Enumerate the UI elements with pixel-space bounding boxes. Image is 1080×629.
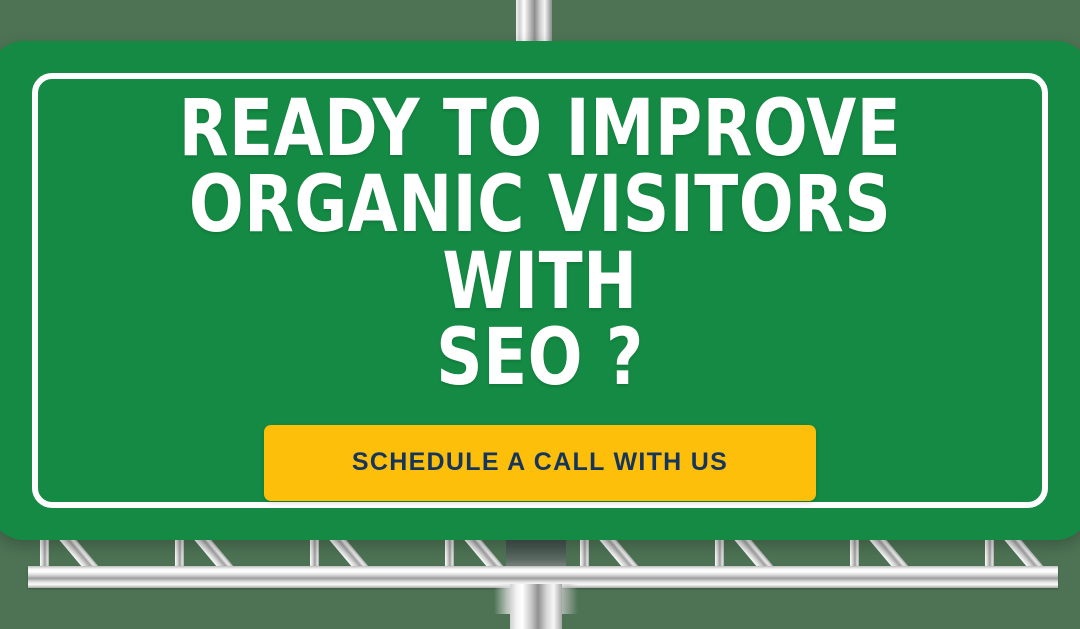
billboard-scene: READY TO IMPROVE ORGANIC VISITORS WITH S… [0,0,1080,629]
schedule-call-button[interactable]: SCHEDULE A CALL WITH US [264,425,816,501]
sign-board: READY TO IMPROVE ORGANIC VISITORS WITH S… [0,41,1080,540]
sign-headline: READY TO IMPROVE ORGANIC VISITORS WITH S… [82,91,998,397]
centre-support-post [510,584,562,629]
cta-container: SCHEDULE A CALL WITH US [42,425,1038,501]
sign-content: READY TO IMPROVE ORGANIC VISITORS WITH S… [42,81,1038,500]
